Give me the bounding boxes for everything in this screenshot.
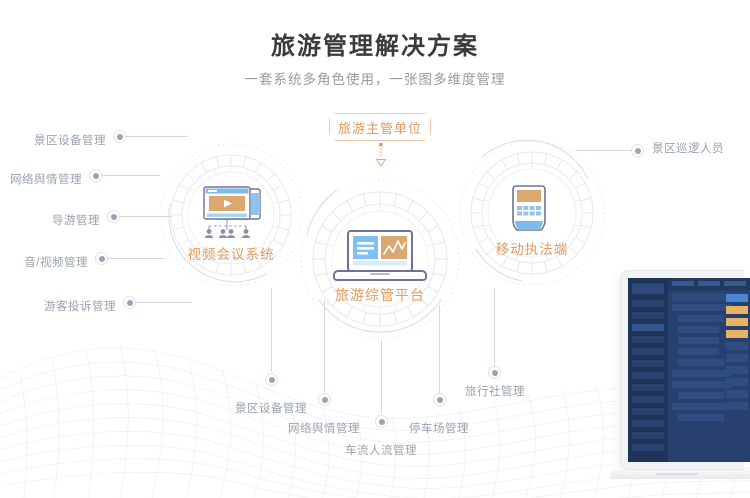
preview-menu-item — [632, 348, 664, 355]
preview-chip — [726, 402, 748, 410]
preview-menu-item — [632, 396, 664, 403]
preview-brand — [632, 283, 664, 294]
spoke-line-bottom-1 — [324, 300, 325, 392]
down-arrow-icon — [374, 143, 388, 169]
spoke-line-left-1 — [102, 175, 160, 176]
preview-sidebar — [628, 278, 668, 462]
page-title: 旅游管理解决方案 — [0, 26, 750, 61]
preview-chip — [726, 342, 748, 350]
spoke-line-bottom-4 — [494, 288, 495, 366]
laptop-dashboard-icon — [332, 229, 428, 283]
spoke-line-left-0 — [126, 136, 188, 137]
badge-corner-tr — [425, 112, 432, 119]
authority-badge-label: 旅游主管单位 — [329, 113, 431, 141]
spoke-dot-left-2 — [107, 210, 120, 223]
preview-menu-item — [632, 312, 664, 319]
badge-corner-br — [425, 135, 432, 142]
video-window-icon — [196, 185, 268, 239]
spoke-dot-bottom-0 — [265, 373, 278, 386]
spoke-label-bottom-4: 旅行社管理 — [443, 383, 547, 399]
preview-row — [672, 370, 731, 377]
preview-topbar — [668, 278, 750, 290]
preview-menu-item — [632, 444, 664, 451]
preview-menu-item — [632, 408, 664, 415]
spoke-line-bottom-3 — [439, 305, 440, 393]
preview-side-chips — [724, 294, 750, 462]
preview-menu-item — [632, 336, 664, 343]
preview-row — [678, 315, 724, 322]
page-subtitle: 一套系统多角色使用，一张图多维度管理 — [0, 68, 750, 88]
node-label-tourism-platform: 旅游综管平台 — [320, 285, 440, 305]
preview-main-panel — [668, 278, 750, 462]
preview-menu-item — [632, 384, 664, 391]
spoke-label-bottom-1: 网络舆情管理 — [272, 420, 376, 436]
spoke-label-right-0: 景区巡逻人员 — [652, 140, 750, 156]
preview-chip — [726, 294, 748, 302]
preview-row — [678, 337, 719, 344]
preview-chip — [726, 366, 748, 374]
preview-row — [672, 304, 731, 311]
preview-row — [672, 381, 731, 388]
laptop-screen — [628, 278, 750, 462]
spoke-dot-left-0 — [113, 130, 126, 143]
spoke-dot-left-3 — [95, 252, 108, 265]
preview-menu-item — [632, 372, 664, 379]
dashboard-laptop-preview — [620, 270, 750, 492]
preview-chip — [726, 354, 748, 362]
preview-row — [678, 326, 719, 333]
preview-chip — [726, 390, 748, 398]
spoke-line-bottom-0 — [271, 288, 272, 372]
spoke-label-left-1: 网络舆情管理 — [0, 171, 82, 187]
spoke-label-bottom-2: 车流人流管理 — [329, 442, 433, 458]
spoke-line-left-3 — [108, 258, 166, 259]
spoke-line-left-4 — [136, 302, 192, 303]
spoke-label-left-2: 导游管理 — [0, 212, 100, 228]
preview-menu-item — [632, 432, 664, 439]
spoke-label-left-0: 景区设备管理 — [0, 132, 106, 148]
preview-row — [678, 414, 724, 421]
spoke-label-bottom-0: 景区设备管理 — [219, 400, 323, 416]
spoke-line-right-0 — [575, 150, 631, 151]
preview-chip — [726, 306, 748, 314]
preview-chip — [726, 330, 748, 338]
badge-corner-bl — [328, 135, 335, 142]
preview-menu-item — [632, 300, 664, 307]
spoke-dot-bottom-1 — [318, 393, 331, 406]
spoke-dot-left-4 — [123, 296, 136, 309]
preview-menu-item-selected — [632, 324, 664, 331]
preview-row — [678, 348, 719, 355]
laptop-notch — [656, 473, 698, 475]
preview-chip — [726, 378, 748, 386]
badge-corner-tl — [328, 112, 335, 119]
spoke-label-left-4: 游客投诉管理 — [8, 298, 116, 314]
preview-row — [678, 392, 724, 399]
spoke-label-bottom-3: 停车场管理 — [387, 420, 491, 436]
poster-canvas: 旅游管理解决方案 一套系统多角色使用，一张图多维度管理 旅游主管单位 — [0, 0, 750, 498]
preview-row — [672, 403, 731, 410]
node-label-mobile-enforcement: 移动执法端 — [472, 238, 592, 258]
spoke-dot-bottom-4 — [488, 366, 501, 379]
node-label-video-conference: 视频会议系统 — [171, 243, 291, 263]
preview-row — [678, 359, 724, 366]
authority-badge: 旅游主管单位 — [329, 113, 431, 141]
preview-menu-item — [632, 360, 664, 367]
preview-menu-item — [632, 420, 664, 427]
spoke-line-bottom-2 — [381, 340, 382, 414]
spoke-label-left-3: 音/视频管理 — [0, 254, 88, 270]
spoke-dot-right-0 — [631, 144, 644, 157]
spoke-dot-left-1 — [89, 169, 102, 182]
handheld-device-icon — [508, 183, 550, 239]
spoke-line-left-2 — [120, 216, 172, 217]
preview-chip — [726, 318, 748, 326]
